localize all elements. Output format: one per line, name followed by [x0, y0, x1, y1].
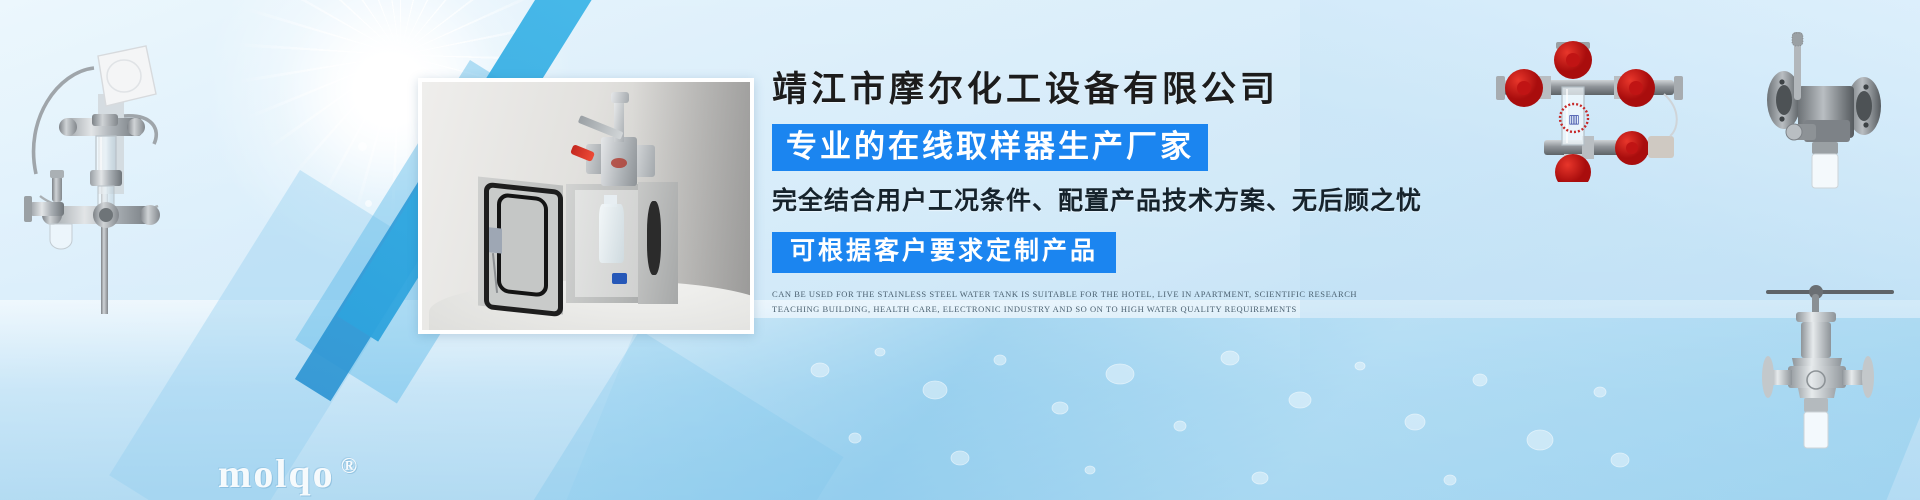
lens-flare-dot	[365, 200, 372, 207]
marketing-text-block: 靖江市摩尔化工设备有限公司 专业的在线取样器生产厂家 完全结合用户工况条件、配置…	[772, 72, 1412, 317]
product-cross-valve-manifold: ▥	[1486, 32, 1696, 182]
custom-product-pill: 可根据客户要求定制产品	[772, 232, 1116, 273]
sample-bottle	[599, 204, 624, 264]
water-band	[559, 318, 1920, 500]
promo-banner: ▥	[0, 0, 1920, 500]
blue-cap	[612, 273, 627, 284]
headline-banner: 专业的在线取样器生产厂家	[772, 124, 1208, 171]
cabinet-door-latch	[489, 228, 502, 254]
valve-top-nut	[611, 92, 629, 103]
lens-flare-dot	[358, 142, 367, 151]
watermark-text: molqo	[218, 451, 335, 496]
brand-watermark: molqo®	[218, 454, 359, 494]
cabinet-side-gasket	[647, 201, 662, 275]
company-name: 靖江市摩尔化工设备有限公司	[772, 72, 1412, 107]
svg-text:▥: ▥	[1568, 112, 1579, 126]
diagonal-stripe-lower	[481, 330, 844, 500]
subline-text: 完全结合用户工况条件、配置产品技术方案、无后顾之忧	[772, 187, 1412, 216]
english-description: CAN BE USED FOR THE STAINLESS STEEL WATE…	[772, 287, 1372, 317]
water-droplets-icon	[760, 330, 1660, 500]
registered-mark-icon: ®	[341, 453, 359, 478]
product-flanged-sampling-valve	[1756, 272, 1916, 462]
product-sampler-on-stand	[6, 24, 186, 314]
cabinet-door-window	[497, 192, 548, 297]
valve-logo-badge	[611, 158, 627, 168]
product-photo-sampling-cabinet	[418, 78, 754, 334]
product-flanged-lever-valve	[1746, 24, 1906, 204]
